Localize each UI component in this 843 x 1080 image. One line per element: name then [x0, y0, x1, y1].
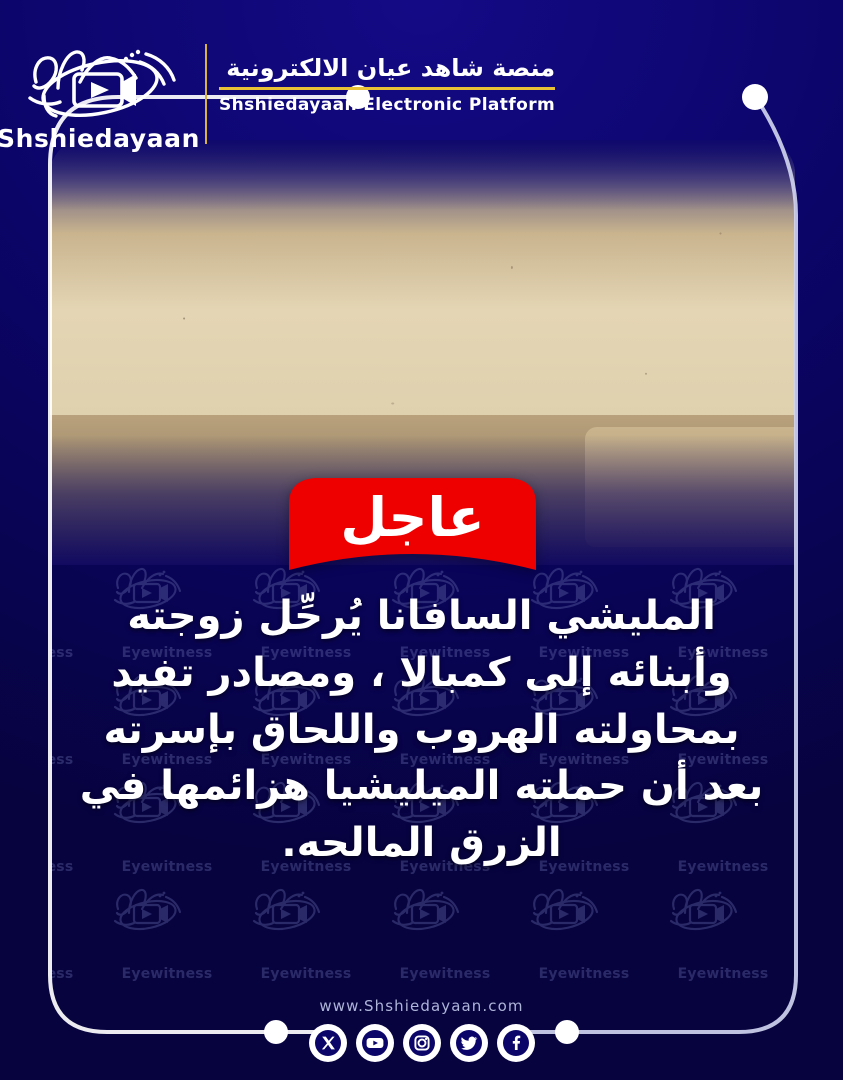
watermark-label: Eyewitness: [658, 966, 788, 982]
watermark-label: Eyewitness: [380, 966, 510, 982]
youtube-icon[interactable]: [356, 1024, 394, 1062]
header-english-title: Shshiedayaan Electronic Platform: [219, 95, 555, 115]
social-links: [0, 1024, 843, 1062]
poster-header: Shshiedayaan منصة شاهد عيان الالكترونية …: [0, 38, 825, 158]
headline-line-1: المليشي السافانا يُرحِّل زوجته: [52, 588, 791, 645]
headline-line-2: وأبنائه إلى كمبالا ، ومصادر تفيد: [52, 645, 791, 702]
brand-logo-block: Shshiedayaan: [6, 38, 191, 153]
headline-line-5: الزرق المالحه.: [52, 815, 791, 872]
news-poster: EyewitnessEyewitnessEyewitnessEyewitness…: [0, 0, 843, 1080]
headline-block: المليشي السافانا يُرحِّل زوجته وأبنائه إ…: [52, 588, 791, 872]
watermark-label: Eyewitness: [102, 966, 232, 982]
x-icon[interactable]: [309, 1024, 347, 1062]
facebook-icon[interactable]: [497, 1024, 535, 1062]
watermark-label: Eyewitness: [241, 966, 371, 982]
watermark-row: EyewitnessEyewitnessEyewitnessEyewitness…: [50, 881, 793, 988]
watermark-tile: Eyewitness: [515, 881, 654, 988]
instagram-icon[interactable]: [403, 1024, 441, 1062]
watermark-tile: Eyewitness: [654, 881, 793, 988]
headline-line-4: بعد أن حملته الميليشيا هزائمها في: [52, 758, 791, 815]
header-gold-rule: [219, 87, 555, 90]
brand-name: Shshiedayaan: [0, 124, 200, 153]
watermark-label: Eyewitness: [50, 966, 93, 982]
header-divider: [205, 44, 207, 144]
watermark-tile: Eyewitness: [237, 881, 376, 988]
eyewitness-play-camera-logo-icon: [14, 38, 184, 130]
website-url[interactable]: www.Shshiedayaan.com: [0, 997, 843, 1015]
watermark-tile: Eyewitness: [376, 881, 515, 988]
urgent-badge-label: عاجل: [289, 476, 536, 570]
header-title-block: منصة شاهد عيان الالكترونية Shshiedayaan …: [219, 38, 555, 115]
watermark-label: Eyewitness: [519, 966, 649, 982]
twitter-icon[interactable]: [450, 1024, 488, 1062]
urgent-badge: عاجل: [289, 476, 536, 570]
header-arabic-title: منصة شاهد عيان الالكترونية: [219, 54, 555, 82]
headline-line-3: بمحاولته الهروب واللحاق بإسرته: [52, 702, 791, 759]
watermark-tile: Eyewitness: [50, 881, 98, 988]
watermark-tile: Eyewitness: [98, 881, 237, 988]
